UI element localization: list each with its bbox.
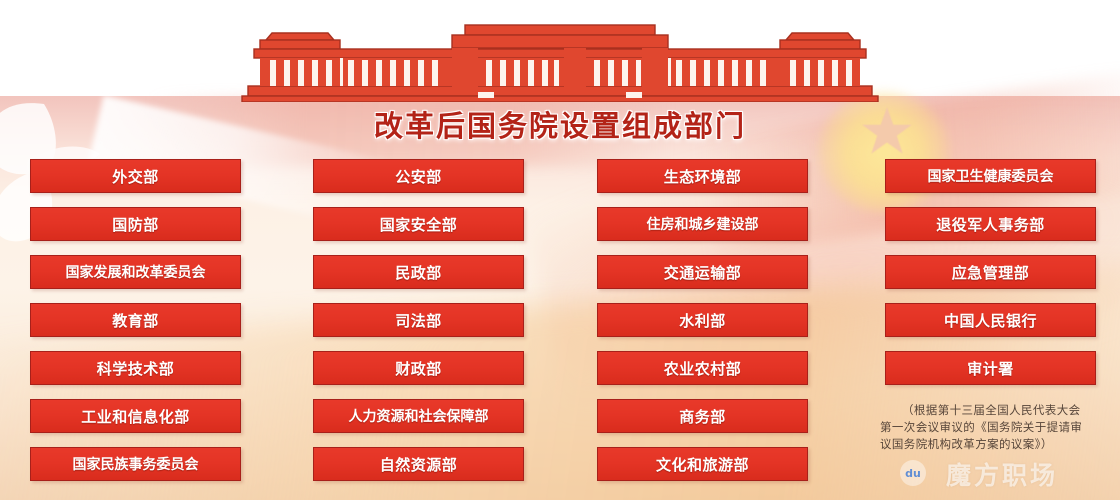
ministry-column-3: 生态环境部 住房和城乡建设部 交通运输部 水利部 农业农村部 商务部 文化和旅游… (597, 159, 808, 495)
ministry-label: 应急管理部 (952, 262, 1030, 283)
ministry-label: 科学技术部 (97, 358, 175, 379)
ministry-label: 人力资源和社会保障部 (349, 406, 489, 426)
ministry-chip[interactable]: 教育部 (30, 303, 241, 337)
ministry-chip[interactable]: 工业和信息化部 (30, 399, 241, 433)
ministry-label: 国防部 (112, 214, 159, 235)
ministry-chip[interactable]: 民政部 (313, 255, 524, 289)
ministry-chip[interactable]: 水利部 (597, 303, 808, 337)
ministry-chip[interactable]: 科学技术部 (30, 351, 241, 385)
ministry-label: 外交部 (112, 166, 159, 187)
ministry-label: 中国人民银行 (944, 310, 1037, 331)
ministry-chip[interactable]: 农业农村部 (597, 351, 808, 385)
ministry-label: 水利部 (679, 310, 726, 331)
ministry-chip[interactable]: 外交部 (30, 159, 241, 193)
watermark-badge-icon: du (900, 460, 926, 486)
ministry-chip[interactable]: 审计署 (885, 351, 1096, 385)
ministry-column-4: 国家卫生健康委员会 退役军人事务部 应急管理部 中国人民银行 审计署 (885, 159, 1096, 399)
ministry-chip[interactable]: 财政部 (313, 351, 524, 385)
ministry-label: 财政部 (395, 358, 442, 379)
ministry-chip[interactable]: 生态环境部 (597, 159, 808, 193)
ministry-column-1: 外交部 国防部 国家发展和改革委员会 教育部 科学技术部 工业和信息化部 国家民… (30, 159, 241, 495)
ministry-label: 工业和信息化部 (81, 406, 190, 427)
ministry-chip[interactable]: 退役军人事务部 (885, 207, 1096, 241)
ministry-chip[interactable]: 国家安全部 (313, 207, 524, 241)
ministry-chip[interactable]: 人力资源和社会保障部 (313, 399, 524, 433)
ministry-label: 教育部 (112, 310, 159, 331)
ministry-label: 国家安全部 (380, 214, 458, 235)
ministry-label: 退役军人事务部 (936, 214, 1045, 235)
ministry-chip[interactable]: 应急管理部 (885, 255, 1096, 289)
ministry-chip[interactable]: 公安部 (313, 159, 524, 193)
ministry-label: 国家发展和改革委员会 (66, 262, 206, 282)
ministry-label: 国家卫生健康委员会 (928, 166, 1054, 186)
ministry-chip[interactable]: 司法部 (313, 303, 524, 337)
ministry-chip[interactable]: 自然资源部 (313, 447, 524, 481)
ministry-chip[interactable]: 国家卫生健康委员会 (885, 159, 1096, 193)
ministry-label: 国家民族事务委员会 (73, 454, 199, 474)
source-footnote: （根据第十三届全国人民代表大会第一次会议审议的《国务院关于提请审议国务院机构改革… (880, 402, 1085, 453)
ministry-label: 文化和旅游部 (656, 454, 749, 475)
ministry-label: 审计署 (967, 358, 1014, 379)
ministry-chip[interactable]: 商务部 (597, 399, 808, 433)
ministry-chip[interactable]: 中国人民银行 (885, 303, 1096, 337)
ministry-label: 生态环境部 (664, 166, 742, 187)
ministry-chip[interactable]: 国家民族事务委员会 (30, 447, 241, 481)
ministry-chip[interactable]: 国防部 (30, 207, 241, 241)
ministry-label: 司法部 (395, 310, 442, 331)
ministry-chip[interactable]: 交通运输部 (597, 255, 808, 289)
ministry-chip[interactable]: 国家发展和改革委员会 (30, 255, 241, 289)
ministry-label: 农业农村部 (664, 358, 742, 379)
ministry-label: 交通运输部 (664, 262, 742, 283)
ministry-chip[interactable]: 住房和城乡建设部 (597, 207, 808, 241)
ministry-column-2: 公安部 国家安全部 民政部 司法部 财政部 人力资源和社会保障部 自然资源部 (313, 159, 524, 495)
ministry-label: 自然资源部 (380, 454, 458, 475)
ministry-chip[interactable]: 文化和旅游部 (597, 447, 808, 481)
poster-root: 改革后国务院设置组成部门 外交部 国防部 国家发展和改革委员会 教育部 科学技术… (0, 0, 1120, 500)
ministry-label: 住房和城乡建设部 (647, 214, 759, 234)
ministry-label: 民政部 (395, 262, 442, 283)
ministry-label: 商务部 (679, 406, 726, 427)
ministry-label: 公安部 (395, 166, 442, 187)
